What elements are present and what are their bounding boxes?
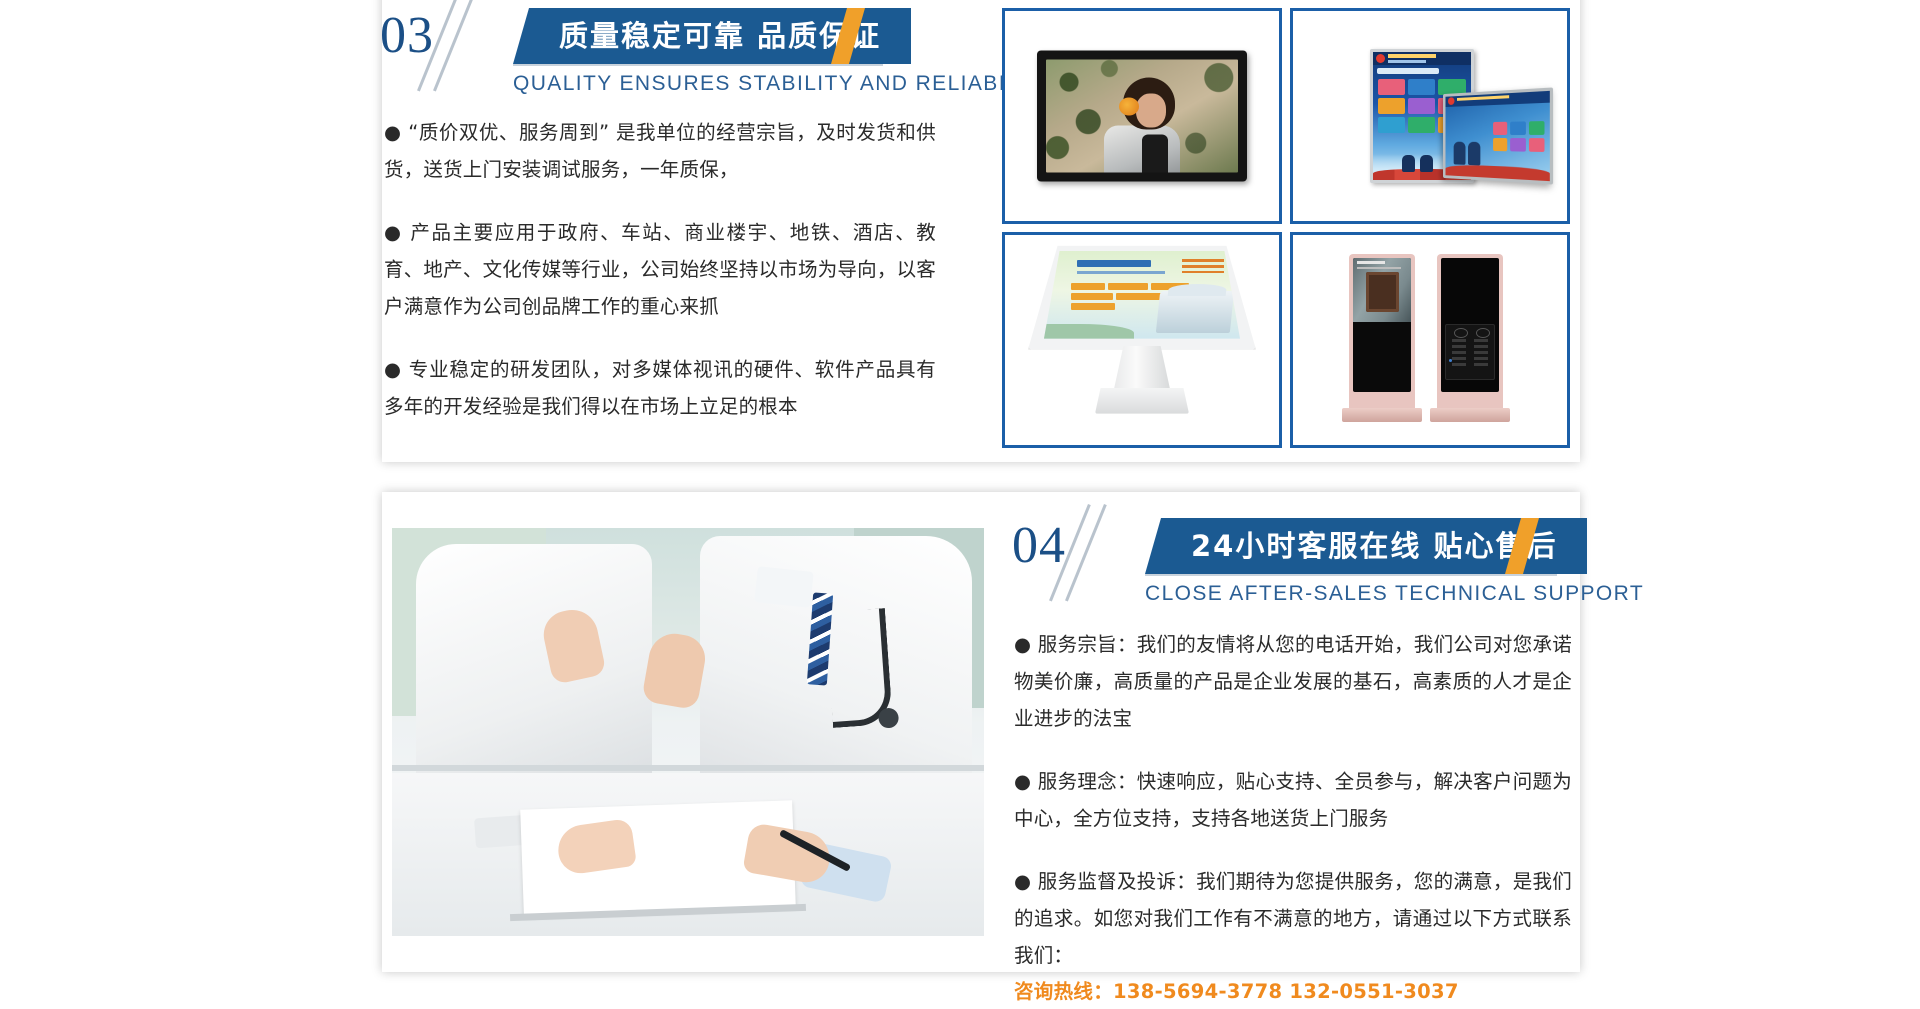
heading-underline bbox=[513, 64, 883, 66]
product-image-grid bbox=[1002, 8, 1570, 448]
section-quality-assurance: 03 质量稳定可靠 品质保证 QUALITY ENSURES STABILITY… bbox=[382, 0, 1580, 462]
angled-kiosk-screen-icon bbox=[1444, 87, 1554, 184]
product-image-lcd-display[interactable] bbox=[1002, 8, 1282, 224]
paragraph-service-purpose: ● 服务宗旨：我们的友情将从您的电话开始，我们公司对您承诺物美价廉，高质量的产品… bbox=[1014, 626, 1572, 737]
section-03-copy: ● “质价双优、服务周到” 是我单位的经营宗旨，及时发货和供货，送货上门安装调试… bbox=[384, 114, 936, 451]
paragraph-service-supervision: ● 服务监督及投诉：我们期待为您提供服务，您的满意，是我们的追求。如您对我们工作… bbox=[1014, 863, 1572, 974]
section-after-sales-support: 04 24小时客服在线 贴心售后 CLOSE AFTER-SALES TECHN… bbox=[382, 492, 1580, 972]
marketing-page: 03 质量稳定可靠 品质保证 QUALITY ENSURES STABILITY… bbox=[0, 0, 1920, 1009]
product-image-government-kiosk[interactable] bbox=[1290, 8, 1570, 224]
heading-underline bbox=[1145, 574, 1557, 576]
section-04-copy: ● 服务宗旨：我们的友情将从您的电话开始，我们公司对您承诺物美价廉，高质量的产品… bbox=[1014, 626, 1572, 1008]
paragraph-applications: ● 产品主要应用于政府、车站、商业楼宇、地铁、酒店、教育、地产、文化传媒等行业，… bbox=[384, 214, 936, 325]
slash-divider-icon bbox=[1078, 508, 1138, 600]
floor-standing-kiosk-pair-icon bbox=[1349, 254, 1511, 426]
consultation-photo[interactable] bbox=[392, 528, 984, 936]
section-04-number: 04 bbox=[1012, 520, 1066, 572]
slash-divider-icon bbox=[446, 0, 506, 90]
section-04-title-en: CLOSE AFTER-SALES TECHNICAL SUPPORT bbox=[1145, 582, 1644, 606]
hotline-text[interactable]: 咨询热线：138-5694-3778 132-0551-3037 bbox=[1014, 976, 1572, 1008]
paragraph-rnd-team: ● 专业稳定的研发团队，对多媒体视讯的硬件、软件产品具有多年的开发经验是我们得以… bbox=[384, 351, 936, 425]
product-image-floor-standing-kiosks[interactable] bbox=[1290, 232, 1570, 448]
section-03-title-en: QUALITY ENSURES STABILITY AND RELIABILIT… bbox=[513, 72, 1056, 96]
product-image-touch-table[interactable] bbox=[1002, 232, 1282, 448]
paragraph-purpose: ● “质价双优、服务周到” 是我单位的经营宗旨，及时发货和供货，送货上门安装调试… bbox=[384, 114, 936, 188]
paragraph-service-philosophy: ● 服务理念：快速响应，贴心支持、全员参与，解决客户问题为中心，全方位支持，支持… bbox=[1014, 763, 1572, 837]
horizontal-touch-table-icon bbox=[1028, 246, 1256, 418]
wall-monitor-icon bbox=[1037, 51, 1247, 182]
section-03-number: 03 bbox=[380, 10, 434, 62]
